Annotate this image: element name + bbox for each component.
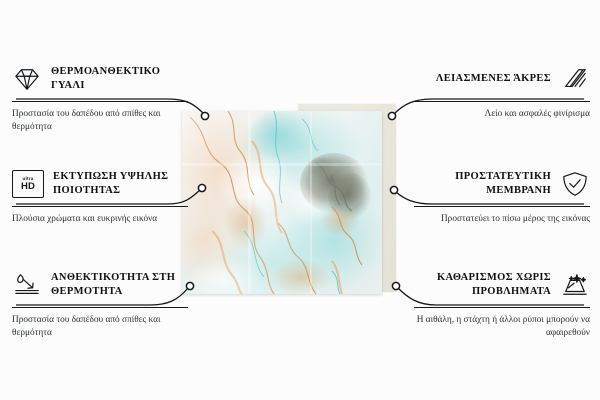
divider [414,101,590,102]
feature-protective-membrane: ΠΡΟΣΤΑΤΕΥΤΙΚΗ ΜΕΜΒΡΑΝΗ Προστατεύει το πί… [414,167,590,226]
feature-heat-durability: ΑΝΘΕΚΤΙΚΟΤΗΤΑ ΣΤΗ ΘΕΡΜΟΤΗΤΑ Προστασία το… [12,268,188,340]
divider [12,101,188,102]
glass-front-panel [182,111,382,294]
feature-title: ΕΚΤΥΠΩΣΗ ΥΨΗΛΗΣ ΠΟΙΟΤΗΤΑΣ [53,170,188,198]
feature-description: Προστατεύει το πίσω μέρος της εικόνας [414,213,590,226]
flame-heat-resistance-icon [12,272,42,298]
feature-polished-edges: ΛΕΙΑΣΜΕΝΕΣ ΆΚΡΕΣ Λείο και ασφαλές φινίρι… [414,62,590,121]
feature-description: Η αιθάλη, η στάχτη ή άλλοι ρύποι μπορούν… [414,314,590,340]
feature-title: ΘΕΡΜΟΑΝΘΕΚΤΙΚΟ ΓΥΑΛΙ [51,65,188,93]
product-image [180,105,410,295]
infographic-canvas: ΘΕΡΜΟΑΝΘΕΚΤΙΚΟ ΓΥΑΛΙ Προστασία του δαπέδ… [0,0,600,400]
feature-description: Λείο και ασφαλές φινίρισμα [414,108,590,121]
feature-title: ΚΑΘΑΡΙΣΜΟΣ ΧΩΡΙΣ ΠΡΟΒΛΗΜΑΤΑ [414,271,551,299]
ultra-hd-badge-icon: ultra HD [12,170,44,198]
shield-check-icon [560,171,590,197]
divider [414,307,590,308]
divider [414,206,590,207]
divider [12,307,188,308]
feature-title: ΑΝΘΕΚΤΙΚΟΤΗΤΑ ΣΤΗ ΘΕΡΜΟΤΗΤΑ [51,271,188,299]
feature-description: Πλούσια χρώματα και ευκρινής εικόνα [12,213,188,226]
sparkle-cleaning-icon [560,272,590,298]
feature-description: Προστασία του δαπέδου από σπίθες και θερ… [12,314,188,340]
diamond-icon [12,66,42,92]
polished-edges-icon [560,66,590,92]
feature-heat-resistant-glass: ΘΕΡΜΟΑΝΘΕΚΤΙΚΟ ΓΥΑΛΙ Προστασία του δαπέδ… [12,62,188,134]
feature-title: ΛΕΙΑΣΜΕΝΕΣ ΆΚΡΕΣ [436,72,551,86]
feature-easy-cleaning: ΚΑΘΑΡΙΣΜΟΣ ΧΩΡΙΣ ΠΡΟΒΛΗΜΑΤΑ Η αιθάλη, η … [414,268,590,340]
badge-hd-label: HD [21,182,35,192]
feature-title: ΠΡΟΣΤΑΤΕΥΤΙΚΗ ΜΕΜΒΡΑΝΗ [414,170,551,198]
divider [12,206,188,207]
feature-high-quality-print: ultra HD ΕΚΤΥΠΩΣΗ ΥΨΗΛΗΣ ΠΟΙΟΤΗΤΑΣ Πλούσ… [12,167,188,226]
feature-description: Προστασία του δαπέδου από σπίθες και θερ… [12,108,188,134]
ink-artwork [182,111,382,294]
